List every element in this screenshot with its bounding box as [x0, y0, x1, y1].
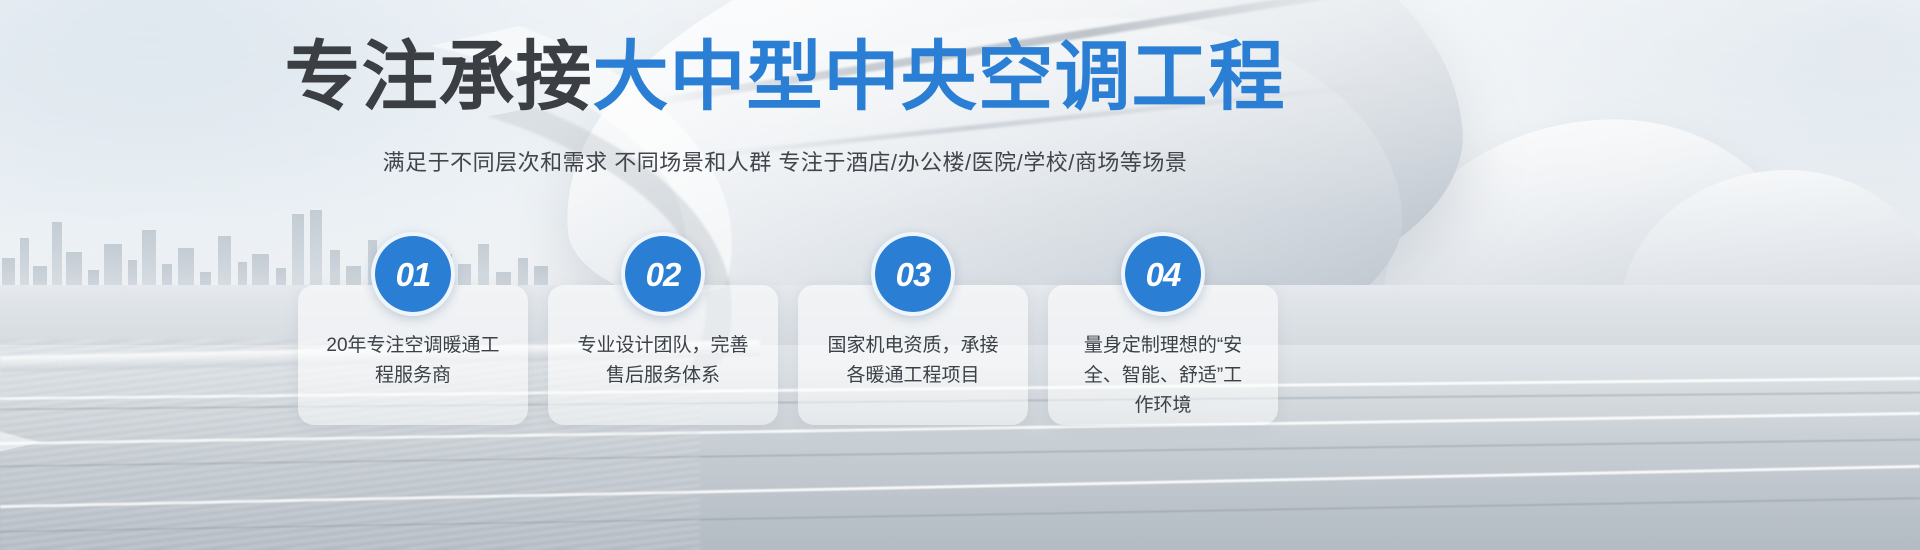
card-text-line: 售后服务体系: [558, 361, 768, 391]
card-number-badge: 01: [371, 232, 455, 316]
card-text-line: 国家机电资质，承接: [808, 331, 1018, 361]
card-number-label: 01: [396, 258, 431, 291]
card-text-line: 作环境: [1058, 391, 1268, 421]
card-description: 专业设计团队，完善 售后服务体系: [558, 331, 768, 391]
feature-card-list: 01 20年专注空调暖通工 程服务商 02 专业设计团队，完善 售后服务体系: [298, 230, 1578, 430]
headline-part-blue: 大中型中央空调工程: [593, 35, 1286, 120]
card-description: 量身定制理想的“安 全、智能、舒适”工 作环境: [1058, 331, 1268, 421]
subtitle: 满足于不同层次和需求 不同场景和人群 专注于酒店/办公楼/医院/学校/商场等场景: [0, 148, 1570, 178]
headline: 专注承接大中型中央空调工程: [0, 38, 1570, 118]
card-description: 20年专注空调暖通工 程服务商: [308, 331, 518, 391]
card-text-line: 20年专注空调暖通工: [308, 331, 518, 361]
card-number-badge: 04: [1121, 232, 1205, 316]
banner-content: 专注承接大中型中央空调工程 满足于不同层次和需求 不同场景和人群 专注于酒店/办…: [0, 0, 1920, 550]
card-text-line: 程服务商: [308, 361, 518, 391]
feature-card[interactable]: 04 量身定制理想的“安 全、智能、舒适”工 作环境: [1048, 285, 1278, 425]
card-number-label: 04: [1146, 258, 1181, 291]
promo-banner: 专注承接大中型中央空调工程 满足于不同层次和需求 不同场景和人群 专注于酒店/办…: [0, 0, 1920, 550]
card-description: 国家机电资质，承接 各暖通工程项目: [808, 331, 1018, 391]
feature-card[interactable]: 02 专业设计团队，完善 售后服务体系: [548, 285, 778, 425]
card-text-line: 全、智能、舒适”工: [1058, 361, 1268, 391]
headline-part-dark: 专注承接: [285, 35, 593, 120]
card-number-label: 03: [896, 258, 931, 291]
card-number-label: 02: [646, 258, 681, 291]
card-text-line: 量身定制理想的“安: [1058, 331, 1268, 361]
feature-card[interactable]: 03 国家机电资质，承接 各暖通工程项目: [798, 285, 1028, 425]
card-number-badge: 03: [871, 232, 955, 316]
feature-card[interactable]: 01 20年专注空调暖通工 程服务商: [298, 285, 528, 425]
card-number-badge: 02: [621, 232, 705, 316]
card-text-line: 各暖通工程项目: [808, 361, 1018, 391]
card-text-line: 专业设计团队，完善: [558, 331, 768, 361]
